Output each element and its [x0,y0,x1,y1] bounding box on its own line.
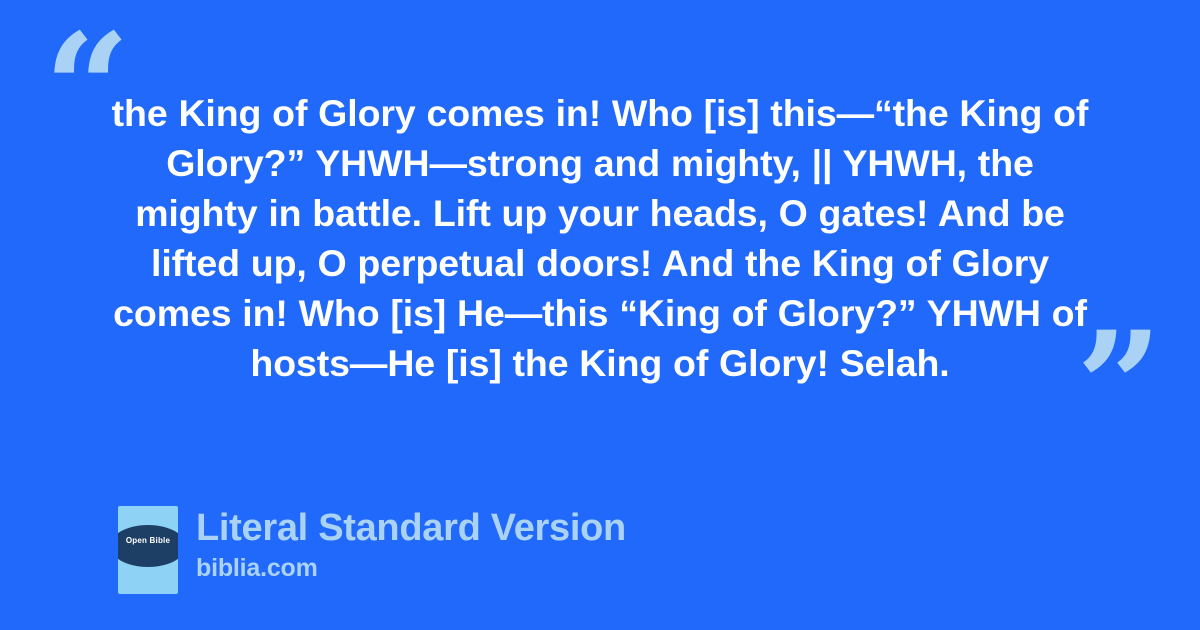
site-url[interactable]: biblia.com [196,554,626,583]
book-band [118,525,178,567]
book-label: Open Bible [118,537,178,545]
attribution-footer: Open Bible Literal Standard Version bibl… [118,506,626,594]
bible-verse-share-card: “ the King of Glory comes in! Who [is] t… [0,0,1200,630]
verse-text: the King of Glory comes in! Who [is] thi… [105,88,1095,388]
attribution-text-group: Literal Standard Version biblia.com [196,506,626,583]
quote-block: the King of Glory comes in! Who [is] thi… [105,88,1095,388]
bible-version-name: Literal Standard Version [196,506,626,550]
open-bible-book-icon: Open Bible [118,506,178,594]
close-quote-icon: ” [1076,312,1160,462]
